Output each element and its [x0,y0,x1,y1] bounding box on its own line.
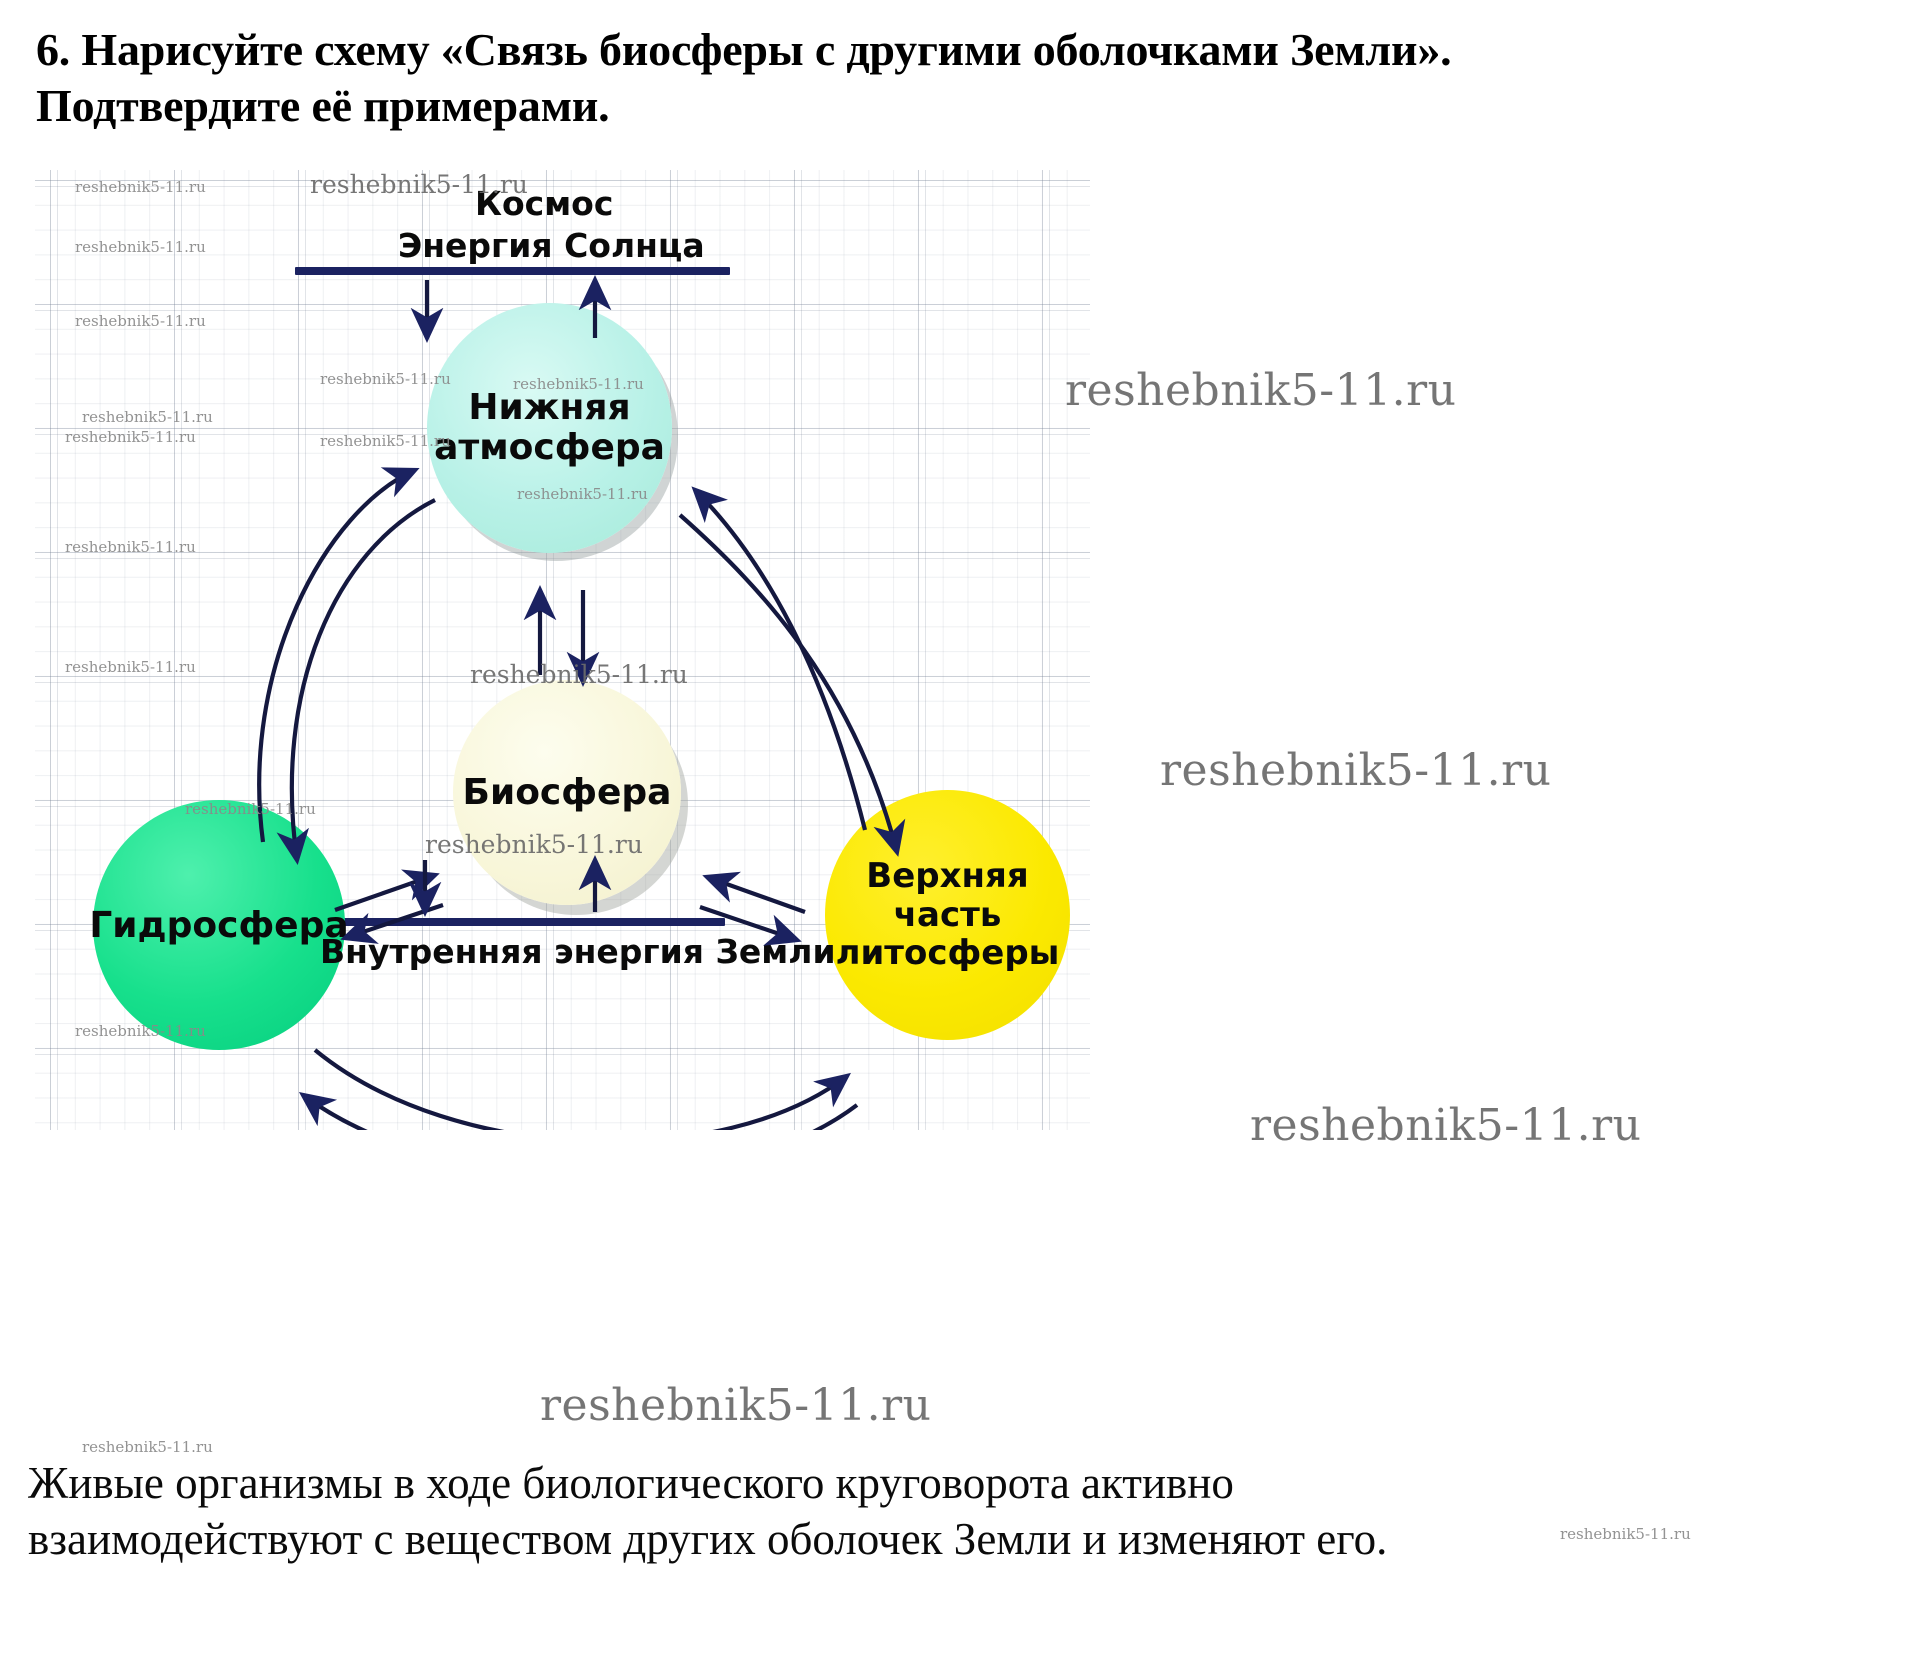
answer-line-1: Живые организмы в ходе биологического кр… [28,1455,1908,1511]
node-upper-lithosphere-label-2: часть [894,896,1002,935]
cosmos-energy-bar [295,267,730,275]
earth-internal-energy-label: Внутренняя энергия Земли [320,932,836,971]
watermark: reshebnik5-11.ru [1250,1100,1641,1151]
solar-energy-label: Энергия Солнца [398,226,705,265]
watermark: reshebnik5-11.ru [65,428,196,446]
answer-paragraph: Живые организмы в ходе биологического кр… [28,1455,1908,1568]
watermark: reshebnik5-11.ru [540,1380,931,1431]
arrow-lithosphere-to-biosphere [707,877,805,912]
node-upper-lithosphere-label-3: литосферы [836,934,1060,973]
watermark: reshebnik5-11.ru [1160,745,1551,796]
watermark: reshebnik5-11.ru [82,1438,213,1456]
watermark: reshebnik5-11.ru [310,170,528,199]
node-lower-atmosphere[interactable]: Нижняя атмосфера [427,303,672,553]
question-heading: 6. Нарисуйте схему «Связь биосферы с дру… [36,22,1636,134]
node-lower-atmosphere-label-2: атмосфера [434,428,665,468]
watermark: reshebnik5-11.ru [82,408,213,426]
arrow-lithosphere-to-hydrosphere [303,1095,857,1130]
node-hydrosphere[interactable]: Гидросфера [93,800,345,1050]
arrow-atmosphere-to-lithosphere [680,515,897,852]
biosphere-connections-diagram: Космос Энергия Солнца Внутренняя энергия… [35,170,1090,1130]
question-line-1: 6. Нарисуйте схему «Связь биосферы с дру… [36,22,1636,78]
watermark: reshebnik5-11.ru [75,238,206,256]
node-upper-lithosphere-label-1: Верхняя [866,857,1028,896]
node-lower-atmosphere-label-1: Нижняя [468,388,630,428]
watermark: reshebnik5-11.ru [320,432,451,450]
watermark: reshebnik5-11.ru [320,370,451,388]
node-biosphere-label: Биосфера [463,772,672,813]
node-hydrosphere-label: Гидросфера [89,905,348,946]
watermark: reshebnik5-11.ru [425,830,643,859]
arrow-hydrosphere-to-lithosphere [315,1050,847,1130]
watermark: reshebnik5-11.ru [470,660,688,689]
watermark: reshebnik5-11.ru [75,1022,206,1040]
watermark: reshebnik5-11.ru [185,800,316,818]
arrow-hydrosphere-to-atmosphere [259,470,415,842]
arrow-hydrosphere-to-biosphere [335,875,435,910]
watermark: reshebnik5-11.ru [1560,1525,1691,1543]
question-line-2: Подтвердите её примерами. [36,78,1636,134]
node-biosphere[interactable]: Биосфера [453,680,681,905]
watermark: reshebnik5-11.ru [75,178,206,196]
node-upper-lithosphere[interactable]: Верхняя часть литосферы [825,790,1070,1040]
earth-internal-energy-bar [290,918,725,926]
arrow-lithosphere-to-atmosphere [695,490,865,830]
watermark: reshebnik5-11.ru [65,538,196,556]
watermark: reshebnik5-11.ru [1065,365,1456,416]
watermark: reshebnik5-11.ru [65,658,196,676]
watermark: reshebnik5-11.ru [75,312,206,330]
watermark: reshebnik5-11.ru [513,375,644,393]
watermark: reshebnik5-11.ru [517,485,648,503]
